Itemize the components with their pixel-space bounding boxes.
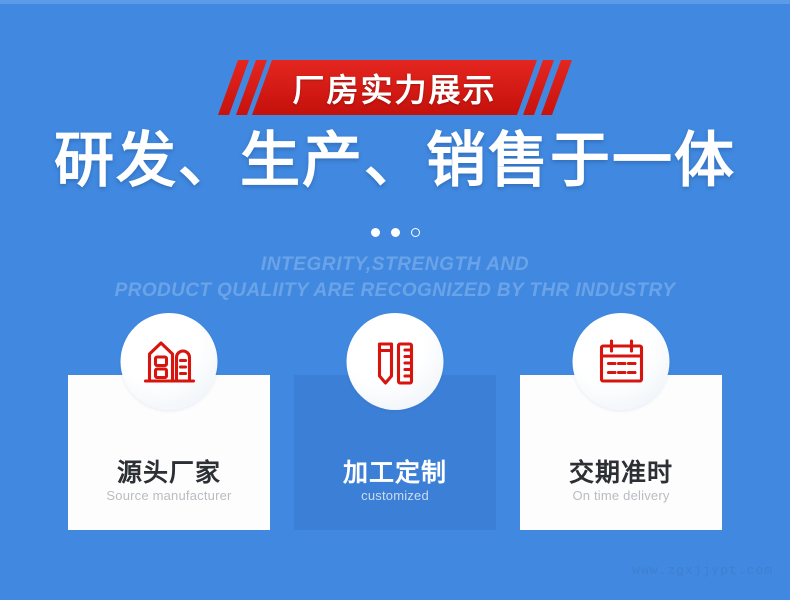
feature-card-subtitle: On time delivery: [520, 488, 722, 503]
subtitle-line-2: PRODUCT QUALIITY ARE RECOGNIZED BY THR I…: [0, 278, 790, 304]
banner-label: 厂房实力展示: [262, 60, 527, 115]
subtitle-line-1: INTEGRITY,STRENGTH AND: [0, 252, 790, 278]
feature-card-group: 源头厂家 Source manufacturer 加工定制 customized: [0, 375, 790, 535]
watermark-url: www.zgxjjypt.com: [632, 563, 773, 578]
top-accent-strip: [0, 0, 790, 4]
pencil-ruler-icon: [347, 313, 444, 410]
dot-indicator-1-icon[interactable]: [371, 228, 380, 237]
feature-card-subtitle: customized: [294, 488, 496, 503]
feature-card-title: 加工定制: [294, 453, 496, 489]
feature-card-title: 交期准时: [520, 453, 722, 489]
factory-building-icon: [121, 313, 218, 410]
banner: 厂房实力展示: [0, 60, 790, 115]
promo-banner-stage: 厂房实力展示 研发、生产、销售于一体 INTEGRITY,STRENGTH AN…: [0, 0, 790, 600]
page-title: 研发、生产、销售于一体: [0, 128, 790, 194]
feature-card-on-time-delivery[interactable]: 交期准时 On time delivery: [520, 375, 722, 530]
subtitle: INTEGRITY,STRENGTH AND PRODUCT QUALIITY …: [0, 252, 790, 303]
feature-card-source-manufacturer[interactable]: 源头厂家 Source manufacturer: [68, 375, 270, 530]
calendar-icon: [573, 313, 670, 410]
feature-card-subtitle: Source manufacturer: [68, 488, 270, 503]
feature-card-customized[interactable]: 加工定制 customized: [294, 375, 496, 530]
feature-card-title: 源头厂家: [68, 453, 270, 489]
dot-indicator-group: [0, 228, 790, 237]
dot-indicator-3-icon[interactable]: [411, 228, 420, 237]
dot-indicator-2-icon[interactable]: [391, 228, 400, 237]
